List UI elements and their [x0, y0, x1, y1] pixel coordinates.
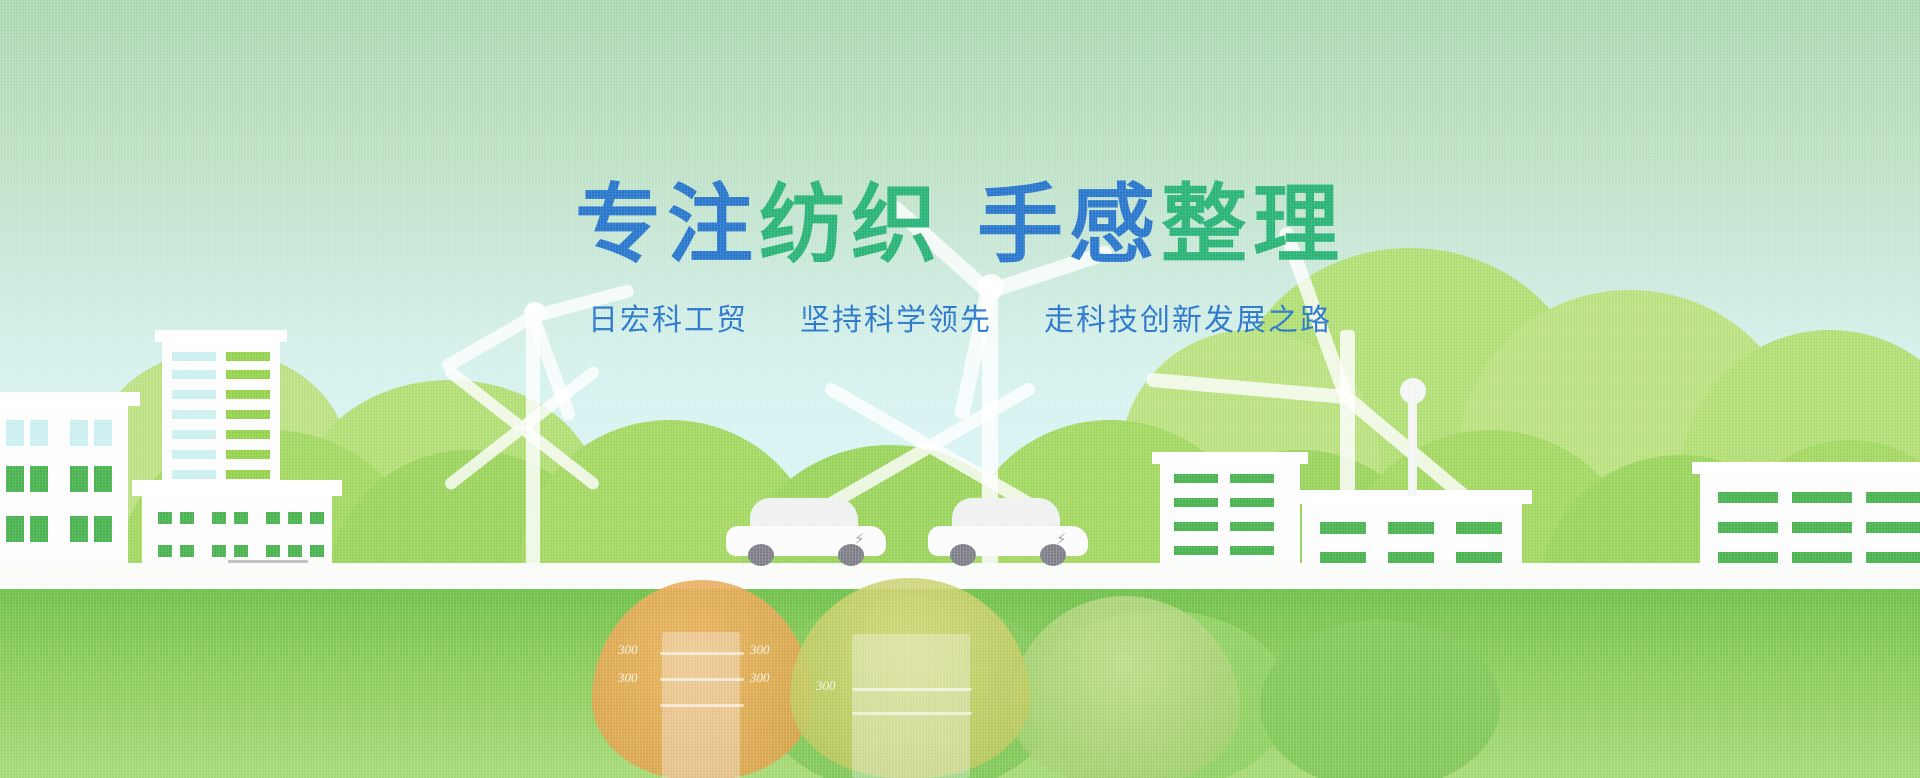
building-window: [158, 512, 172, 524]
building-window: [172, 370, 216, 379]
building-window: [212, 545, 226, 557]
antenna-mast: [1408, 400, 1417, 496]
building-window: [288, 512, 302, 524]
building-roof: [0, 392, 140, 406]
building-window: [266, 545, 280, 557]
building-window: [234, 545, 248, 557]
beaker-graduation: [660, 678, 744, 681]
foreground-bush: [1260, 620, 1500, 778]
building-window: [266, 512, 280, 524]
building-window: [288, 545, 302, 557]
building-window-stripe: [1866, 522, 1920, 533]
building-window-stripe: [1174, 522, 1218, 531]
building-window-stripe: [1388, 522, 1434, 534]
beaker-tick-label: 300: [750, 642, 770, 658]
antenna-ball: [1400, 378, 1426, 404]
building-window: [70, 466, 88, 492]
building-window-stripe: [1174, 546, 1218, 555]
beaker-graduation: [660, 652, 744, 655]
headline-segment-2: 纺织: [759, 177, 943, 273]
building-window: [70, 516, 88, 542]
lightning-bolt-icon: ⚡: [854, 532, 865, 547]
building-window: [172, 410, 216, 419]
page-title: 专注纺织手感整理: [0, 182, 1920, 268]
beaker-tick-label: 300: [750, 670, 770, 686]
building-window-stripe: [1320, 522, 1366, 534]
building-window-stripe: [1456, 522, 1502, 534]
beaker-graduation: [852, 688, 972, 691]
building-window: [226, 390, 270, 399]
electric-car: ⚡: [928, 498, 1088, 570]
subtitle-part-2: 坚持科学领先: [800, 304, 992, 337]
building-roof: [132, 480, 342, 496]
building-window-stripe: [1792, 522, 1852, 533]
building-window: [172, 390, 216, 399]
building-window: [226, 352, 270, 361]
building-window: [94, 516, 112, 542]
building-roof: [1152, 452, 1308, 464]
beaker-tick-label: 300: [618, 642, 638, 658]
headline-segment-1: 专注: [575, 177, 759, 273]
car-wheel: [950, 544, 976, 566]
building-window: [226, 430, 270, 439]
building-window-stripe: [1792, 492, 1852, 503]
building-window: [6, 516, 24, 542]
headline-segment-3: 手感: [977, 177, 1161, 273]
building-window-stripe: [1230, 522, 1274, 531]
subtitle-part-3: 走科技创新发展之路: [1044, 304, 1332, 337]
hero-banner: 300 300 300 300 300 ⚡ ⚡ 专注纺织手感整理 日宏科工贸坚持…: [0, 0, 1920, 778]
building-window: [30, 516, 48, 542]
building-window-stripe: [1718, 522, 1778, 533]
lightning-bolt-icon: ⚡: [1056, 532, 1067, 547]
building-window-stripe: [1230, 546, 1274, 555]
building-window: [226, 470, 270, 479]
building-window: [172, 450, 216, 459]
beaker-tick-label: 300: [618, 670, 638, 686]
beaker-tick-label: 300: [816, 678, 836, 694]
headline-segment-4: 整理: [1161, 177, 1345, 273]
building-window: [172, 352, 216, 361]
building-window: [30, 466, 48, 492]
building-window: [172, 430, 216, 439]
beaker-graduation: [660, 704, 744, 707]
building-window: [310, 512, 324, 524]
building-window-stripe: [1866, 552, 1920, 563]
page-subtitle: 日宏科工贸坚持科学领先走科技创新发展之路: [0, 306, 1920, 336]
building-window: [226, 410, 270, 419]
building-window-stripe: [1174, 474, 1218, 483]
subtitle-part-1: 日宏科工贸: [588, 304, 748, 337]
electric-car: ⚡: [726, 498, 886, 570]
building-window: [226, 450, 270, 459]
building-window-stripe: [1866, 492, 1920, 503]
building-window: [226, 370, 270, 379]
building-window-stripe: [1718, 492, 1778, 503]
beaker-graduation: [852, 712, 972, 715]
building-window: [158, 545, 172, 557]
car-wheel: [748, 544, 774, 566]
turbine-hub: [978, 274, 1004, 300]
building-window: [180, 545, 194, 557]
building-window-stripe: [1230, 474, 1274, 483]
building-window: [212, 512, 226, 524]
building-window: [6, 420, 24, 446]
building-window-stripe: [1792, 552, 1852, 563]
building-window: [70, 420, 88, 446]
building-window: [6, 466, 24, 492]
building-window: [234, 512, 248, 524]
building-window: [180, 512, 194, 524]
building-window: [94, 466, 112, 492]
building-window-stripe: [1718, 552, 1778, 563]
building-window: [30, 420, 48, 446]
building-window: [172, 470, 216, 479]
beaker-tube: [852, 634, 970, 778]
building-window-stripe: [1174, 498, 1218, 507]
building-window-stripe: [1230, 498, 1274, 507]
building-window: [310, 545, 324, 557]
building-window: [94, 420, 112, 446]
building-roof: [1692, 462, 1920, 474]
